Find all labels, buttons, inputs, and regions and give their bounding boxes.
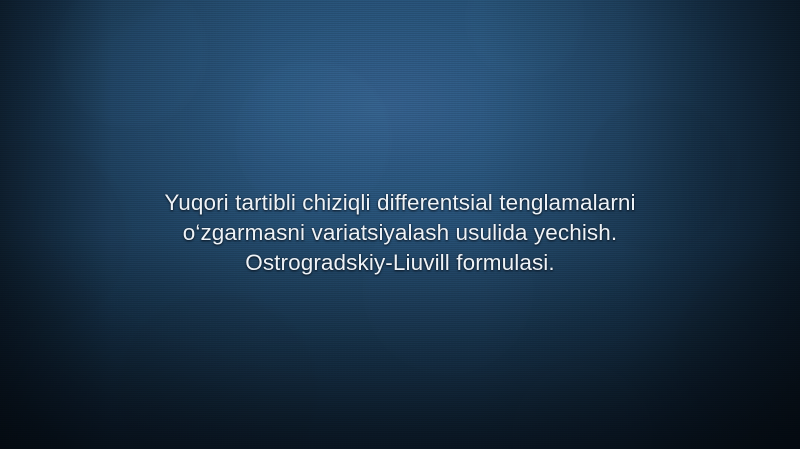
slide-title-line-2: o‘zgarmasni variatsiyalash usulida yechi… xyxy=(60,218,740,248)
slide-canvas: Yuqori tartibli chiziqli differentsial t… xyxy=(0,0,800,449)
slide-title: Yuqori tartibli chiziqli differentsial t… xyxy=(0,188,800,278)
slide-title-line-3: Ostrogradskiy-Liuvill formulasi. xyxy=(60,248,740,278)
slide-title-line-1: Yuqori tartibli chiziqli differentsial t… xyxy=(60,188,740,218)
